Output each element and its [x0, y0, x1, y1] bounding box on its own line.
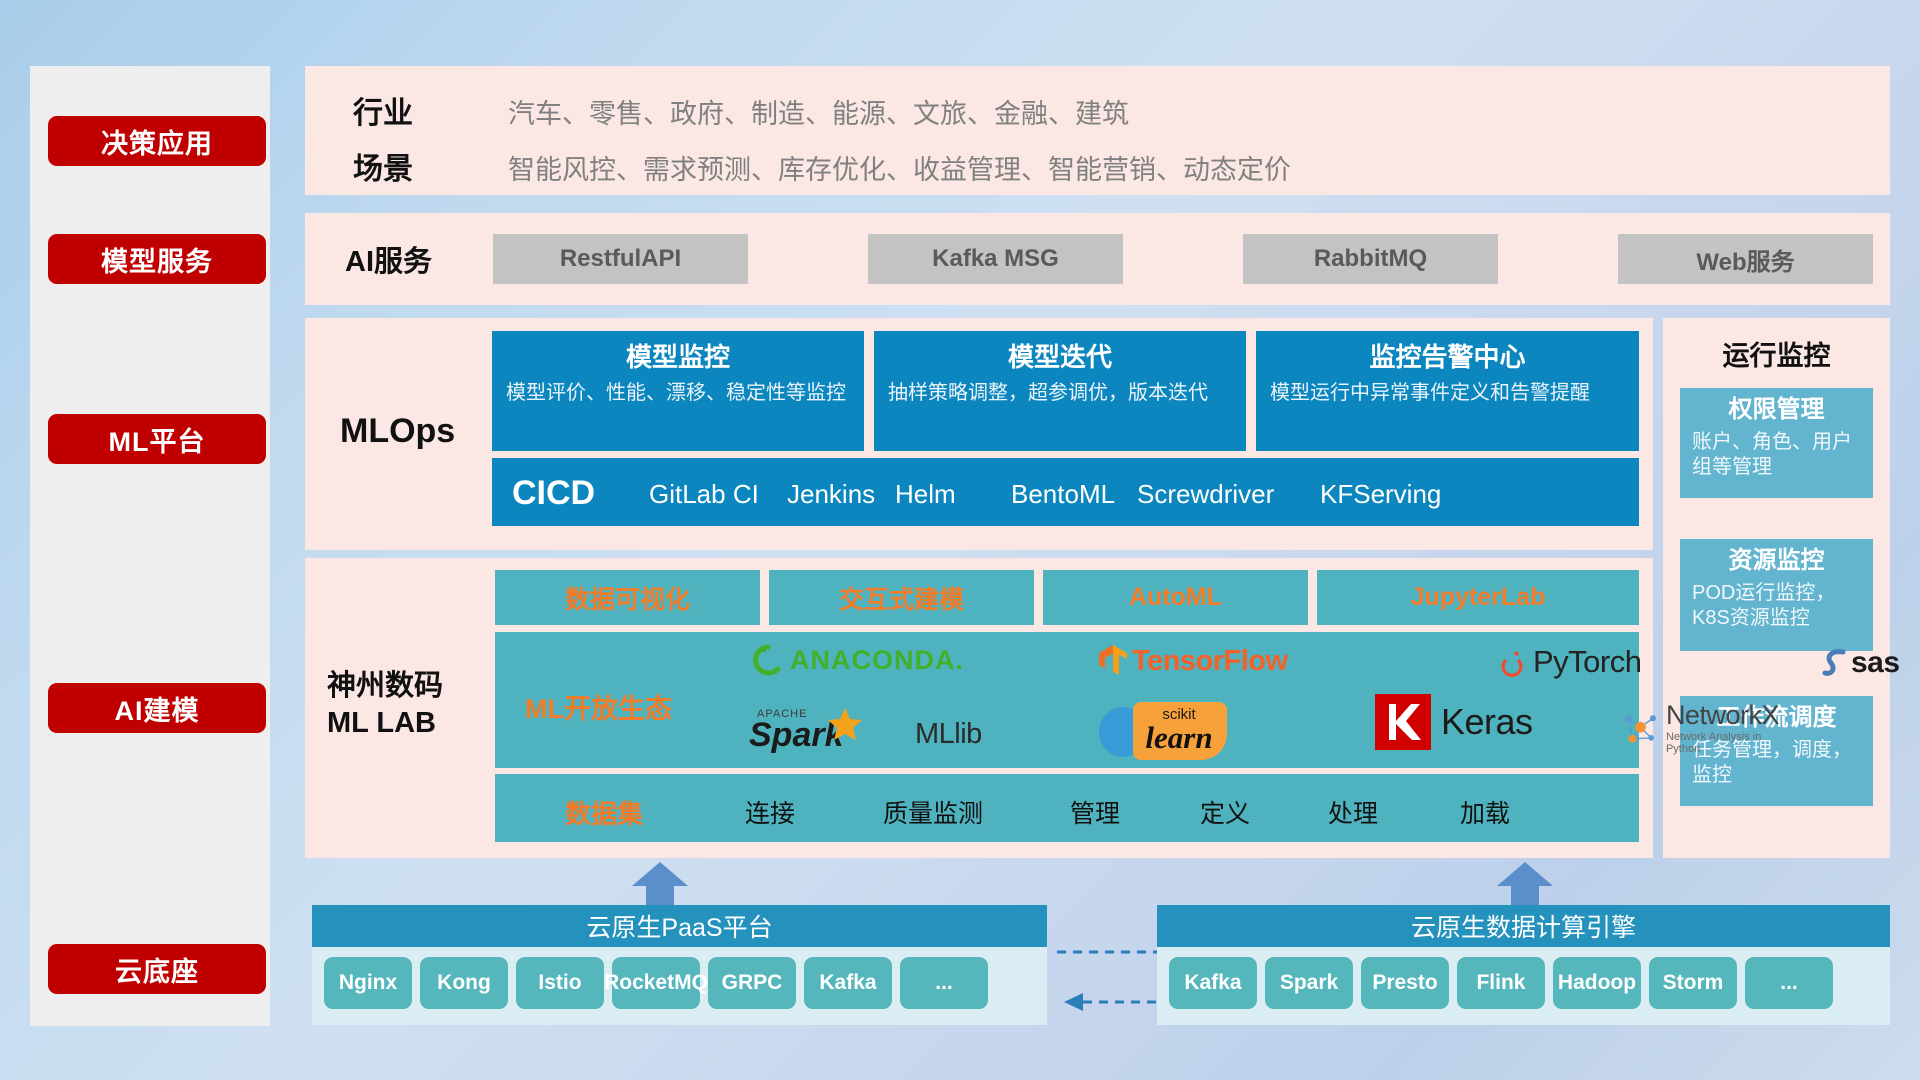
- tab-label: 数据可视化: [565, 580, 690, 616]
- dataset-item-quality[interactable]: 质量监测: [858, 794, 1008, 830]
- tab-label: AutoML: [1129, 583, 1222, 612]
- paas-chip-grpc[interactable]: GRPC: [708, 957, 796, 1009]
- lab-tab-jupyterlab[interactable]: JupyterLab: [1317, 570, 1639, 625]
- service-chip-rabbitmq[interactable]: RabbitMQ: [1243, 234, 1498, 284]
- compute-chip-flink[interactable]: Flink: [1457, 957, 1545, 1009]
- card-title: 权限管理: [1692, 396, 1861, 425]
- chip-label: ...: [935, 972, 953, 995]
- layer-pill-ml-platform[interactable]: ML平台: [48, 414, 266, 464]
- service-chip-web-service[interactable]: Web服务: [1618, 234, 1873, 284]
- ml-lab-label-line2: ML LAB: [327, 705, 497, 742]
- tab-label: JupyterLab: [1411, 583, 1546, 612]
- layer-rail: 决策应用 模型服务 ML平台 AI建模 云底座: [30, 66, 270, 1026]
- chip-label: RocketMQ: [604, 972, 708, 995]
- chip-label: RestfulAPI: [560, 245, 681, 273]
- paas-chip-kong[interactable]: Kong: [420, 957, 508, 1009]
- tensorflow-mark-icon: [1098, 644, 1128, 678]
- ai-service-panel: AI服务 RestfulAPI Kafka MSG RabbitMQ Web服务: [305, 213, 1890, 305]
- cicd-item-kfserving[interactable]: KFServing: [1320, 478, 1500, 511]
- card-desc: 模型评价、性能、漂移、稳定性等监控: [506, 380, 850, 406]
- networkx-logo-text: NetworkX: [1666, 702, 1784, 729]
- chip-label: Hadoop: [1558, 972, 1636, 995]
- chip-label: Web服务: [1696, 242, 1794, 277]
- compute-chip-hadoop[interactable]: Hadoop: [1553, 957, 1641, 1009]
- card-desc: 抽样策略调整，超参调优，版本迭代: [888, 380, 1232, 406]
- lab-tab-automl[interactable]: AutoML: [1043, 570, 1308, 625]
- tensorflow-logo-text: TensorFlow: [1132, 645, 1288, 678]
- paas-chip-nginx[interactable]: Nginx: [324, 957, 412, 1009]
- ml-lab-label-line1: 神州数码: [327, 668, 497, 705]
- ml-lab-label: 神州数码 ML LAB: [327, 668, 497, 742]
- networkx-logo: NetworkX Network Analysis in Python: [1620, 702, 1784, 755]
- spark-mllib-logo: APACHE Spark MLlib: [741, 700, 982, 758]
- anaconda-logo-text: ANACONDA.: [790, 645, 964, 676]
- card-title: 资源监控: [1692, 547, 1861, 576]
- compute-chip-spark[interactable]: Spark: [1265, 957, 1353, 1009]
- paas-chip-istio[interactable]: Istio: [516, 957, 604, 1009]
- monitor-card-resource[interactable]: 资源监控 POD运行监控，K8S资源监控: [1680, 539, 1873, 651]
- paas-platform-header: 云原生PaaS平台: [312, 905, 1047, 947]
- paas-chip-kafka[interactable]: Kafka: [804, 957, 892, 1009]
- cicd-item-jenkins[interactable]: Jenkins: [787, 478, 905, 511]
- chip-label: Presto: [1372, 972, 1437, 995]
- mllib-logo-text: MLlib: [915, 718, 982, 751]
- layer-pill-decision[interactable]: 决策应用: [48, 116, 266, 166]
- dataset-item-process[interactable]: 处理: [1293, 794, 1413, 830]
- ai-service-label: AI服务: [345, 234, 495, 284]
- anaconda-mark-icon: [752, 644, 784, 676]
- svg-text:learn: learn: [1145, 720, 1212, 755]
- mlops-card-model-iteration[interactable]: 模型迭代 抽样策略调整，超参调优，版本迭代: [874, 331, 1246, 451]
- chip-label: Kafka: [819, 972, 876, 995]
- paas-platform-title: 云原生PaaS平台: [586, 908, 772, 944]
- chip-label: Kong: [437, 972, 491, 995]
- cicd-bar: CICD GitLab CI Jenkins Helm BentoML Scre…: [492, 458, 1639, 526]
- sas-logo-text: sas: [1851, 646, 1900, 680]
- tensorflow-logo: TensorFlow: [1098, 644, 1288, 678]
- layer-pill-ai-modeling[interactable]: AI建模: [48, 683, 266, 733]
- cicd-item-bentoml[interactable]: BentoML: [1011, 478, 1129, 511]
- layer-pill-label: 决策应用: [101, 122, 213, 161]
- architecture-diagram: 决策应用 模型服务 ML平台 AI建模 云底座 行业 汽车、零售、政府、制造、能…: [0, 0, 1920, 1080]
- monitor-panel: 运行监控 权限管理 账户、角色、用户组等管理 资源监控 POD运行监控，K8S资…: [1663, 318, 1890, 858]
- anaconda-logo: ANACONDA.: [752, 644, 964, 676]
- layer-pill-label: ML平台: [109, 420, 206, 459]
- monitor-title: 运行监控: [1663, 334, 1890, 373]
- keras-logo: Keras: [1375, 694, 1533, 750]
- paas-platform-body: Nginx Kong Istio RocketMQ GRPC Kafka ...: [312, 947, 1047, 1025]
- chip-label: Nginx: [339, 972, 397, 995]
- sas-logo: sas: [1822, 646, 1900, 680]
- dataset-item-connect[interactable]: 连接: [710, 794, 830, 830]
- arrow-up-paas-icon: [630, 862, 690, 908]
- compute-chip-kafka[interactable]: Kafka: [1169, 957, 1257, 1009]
- dataset-item-load[interactable]: 加载: [1425, 794, 1545, 830]
- chip-label: RabbitMQ: [1314, 245, 1427, 273]
- compute-engine-title: 云原生数据计算引擎: [1411, 908, 1636, 944]
- mlops-label: MLOps: [340, 406, 500, 456]
- scenario-label: 场景: [353, 144, 413, 188]
- pytorch-mark-icon: [1498, 646, 1526, 678]
- scikit-learn-mark-icon: scikit learn: [1095, 694, 1265, 760]
- compute-chip-storm[interactable]: Storm: [1649, 957, 1737, 1009]
- cicd-item-screwdriver[interactable]: Screwdriver: [1137, 478, 1317, 511]
- chip-label: Istio: [538, 972, 581, 995]
- compute-chip-more[interactable]: ...: [1745, 957, 1833, 1009]
- layer-pill-model-service[interactable]: 模型服务: [48, 234, 266, 284]
- paas-chip-rocketmq[interactable]: RocketMQ: [612, 957, 700, 1009]
- keras-logo-text: Keras: [1441, 701, 1533, 743]
- application-panel: 行业 汽车、零售、政府、制造、能源、文旅、金融、建筑 场景 智能风控、需求预测、…: [305, 66, 1890, 195]
- layer-pill-label: 模型服务: [101, 240, 213, 279]
- mlops-card-model-monitor[interactable]: 模型监控 模型评价、性能、漂移、稳定性等监控: [492, 331, 864, 451]
- ecosystem-label: ML开放生态: [525, 687, 672, 726]
- chip-label: Flink: [1476, 972, 1525, 995]
- service-chip-kafka-msg[interactable]: Kafka MSG: [868, 234, 1123, 284]
- sas-mark-icon: [1822, 648, 1850, 678]
- pytorch-logo-text: PyTorch: [1533, 644, 1641, 680]
- ml-lab-panel: 神州数码 ML LAB 数据可视化 交互式建模 AutoML JupyterLa…: [305, 558, 1653, 858]
- paas-chip-more[interactable]: ...: [900, 957, 988, 1009]
- scenario-value: 智能风控、需求预测、库存优化、收益管理、智能营销、动态定价: [508, 148, 1291, 187]
- dataset-item-manage[interactable]: 管理: [1035, 794, 1155, 830]
- mlops-panel: MLOps 模型监控 模型评价、性能、漂移、稳定性等监控 模型迭代 抽样策略调整…: [305, 318, 1653, 550]
- chip-label: Kafka MSG: [932, 245, 1059, 273]
- spark-mark-icon: APACHE Spark: [741, 700, 911, 758]
- dataset-bar: 数据集 连接 质量监测 管理 定义 处理 加载: [495, 774, 1639, 842]
- tab-label: 交互式建模: [839, 580, 964, 616]
- chip-label: Spark: [1280, 972, 1338, 995]
- dataset-label: 数据集: [565, 794, 643, 831]
- compute-engine-header: 云原生数据计算引擎: [1157, 905, 1890, 947]
- card-title: 监控告警中心: [1270, 341, 1625, 374]
- lab-tab-data-visualization[interactable]: 数据可视化: [495, 570, 760, 625]
- service-chip-restfulapi[interactable]: RestfulAPI: [493, 234, 748, 284]
- layer-pill-cloud-base[interactable]: 云底座: [48, 944, 266, 994]
- card-desc: 账户、角色、用户组等管理: [1692, 430, 1861, 480]
- chip-label: ...: [1780, 972, 1798, 995]
- chip-label: GRPC: [722, 972, 783, 995]
- networkx-logo-subtext: Network Analysis in Python: [1666, 731, 1784, 755]
- pytorch-logo: PyTorch: [1498, 644, 1641, 680]
- monitor-card-permission[interactable]: 权限管理 账户、角色、用户组等管理: [1680, 388, 1873, 498]
- networkx-mark-icon: [1620, 706, 1661, 752]
- layer-pill-label: AI建模: [115, 689, 200, 728]
- cicd-item-gitlab-ci[interactable]: GitLab CI: [649, 478, 767, 511]
- arrow-up-compute-icon: [1495, 862, 1555, 908]
- ml-ecosystem-box: ML开放生态 ANACONDA. TensorFlow: [495, 632, 1639, 768]
- chip-label: Storm: [1663, 972, 1724, 995]
- chip-label: Kafka: [1184, 972, 1241, 995]
- compute-chip-presto[interactable]: Presto: [1361, 957, 1449, 1009]
- layer-pill-label: 云底座: [115, 950, 199, 989]
- card-desc: 模型运行中异常事件定义和告警提醒: [1270, 380, 1625, 406]
- card-desc: POD运行监控，K8S资源监控: [1692, 581, 1861, 631]
- keras-mark-icon: [1375, 694, 1431, 750]
- cicd-head-label: CICD: [512, 472, 642, 515]
- industry-label: 行业: [353, 88, 413, 132]
- scikit-learn-logo: scikit learn: [1095, 694, 1265, 760]
- compute-engine-body: Kafka Spark Presto Flink Hadoop Storm ..…: [1157, 947, 1890, 1025]
- mlops-card-alert-center[interactable]: 监控告警中心 模型运行中异常事件定义和告警提醒: [1256, 331, 1639, 451]
- lab-tab-interactive-modeling[interactable]: 交互式建模: [769, 570, 1034, 625]
- card-title: 模型监控: [506, 341, 850, 374]
- dataset-item-define[interactable]: 定义: [1165, 794, 1285, 830]
- industry-value: 汽车、零售、政府、制造、能源、文旅、金融、建筑: [508, 92, 1129, 131]
- card-title: 模型迭代: [888, 341, 1232, 374]
- cicd-item-helm[interactable]: Helm: [895, 478, 1013, 511]
